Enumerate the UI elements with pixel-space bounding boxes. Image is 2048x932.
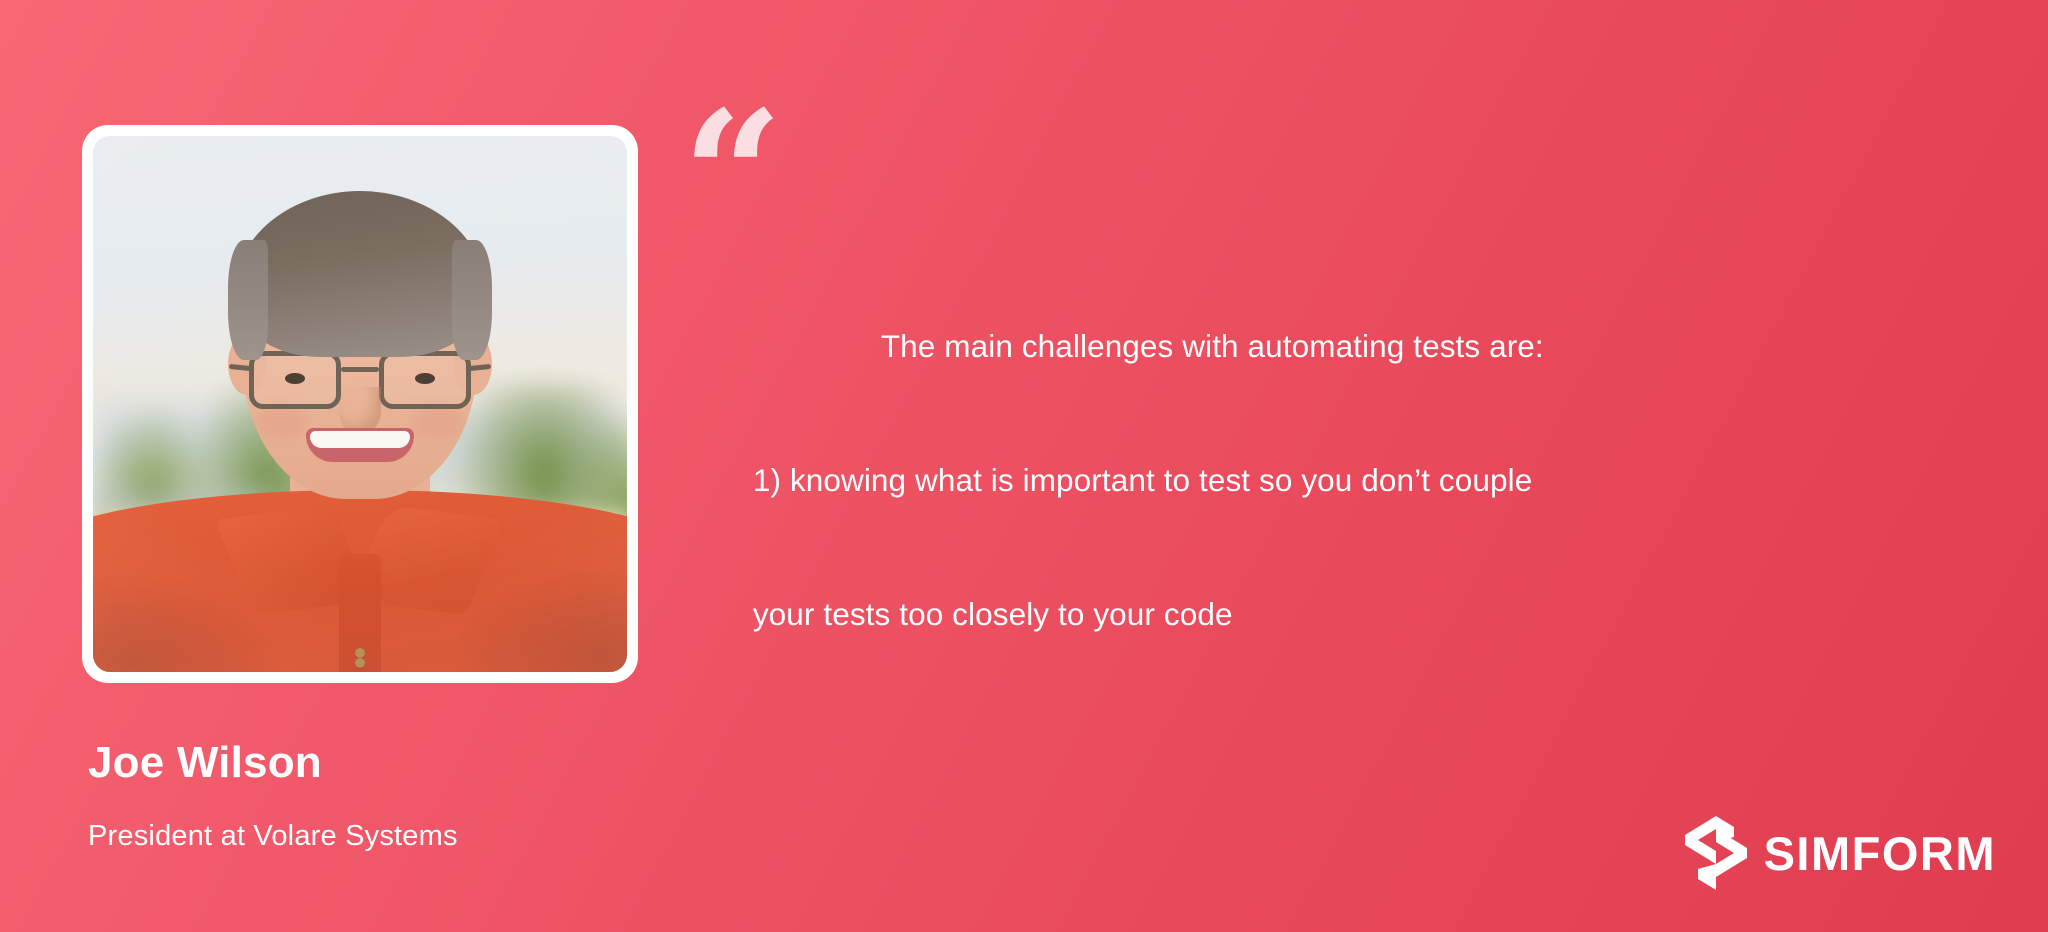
quote-paragraph-1: The main challenges with automating test… [682,246,1968,715]
portrait-shirt-placket [339,554,381,672]
testimonial-card: “ The main challenges with automating te… [0,0,2048,932]
portrait-hair-side-left [228,240,268,360]
person-name: Joe Wilson [88,738,322,788]
portrait-frame [82,125,638,683]
brand-wordmark: SIMFORM [1764,830,1996,877]
portrait-eye-left [285,373,305,384]
portrait-hair-side-right [452,240,492,360]
glasses-bridge [341,367,379,372]
quote-line: your tests too closely to your code [753,596,1233,632]
portrait-teeth [310,431,410,448]
portrait-shirt-button [355,648,365,658]
quote-line: The main challenges with automating test… [881,328,1544,364]
portrait-mouth [306,428,414,462]
brand-logo[interactable]: SIMFORM [1685,816,1996,890]
quote-block: “ The main challenges with automating te… [682,112,1968,932]
quote-line: 1) knowing what is important to test so … [753,462,1533,498]
simform-chevron-logo-icon [1685,816,1747,890]
portrait-eye-right [415,373,435,384]
quote-text: The main challenges with automating test… [682,112,1968,932]
portrait-shirt-button [355,658,365,668]
person-title: President at Volare Systems [88,820,458,853]
portrait-photo [93,136,627,672]
